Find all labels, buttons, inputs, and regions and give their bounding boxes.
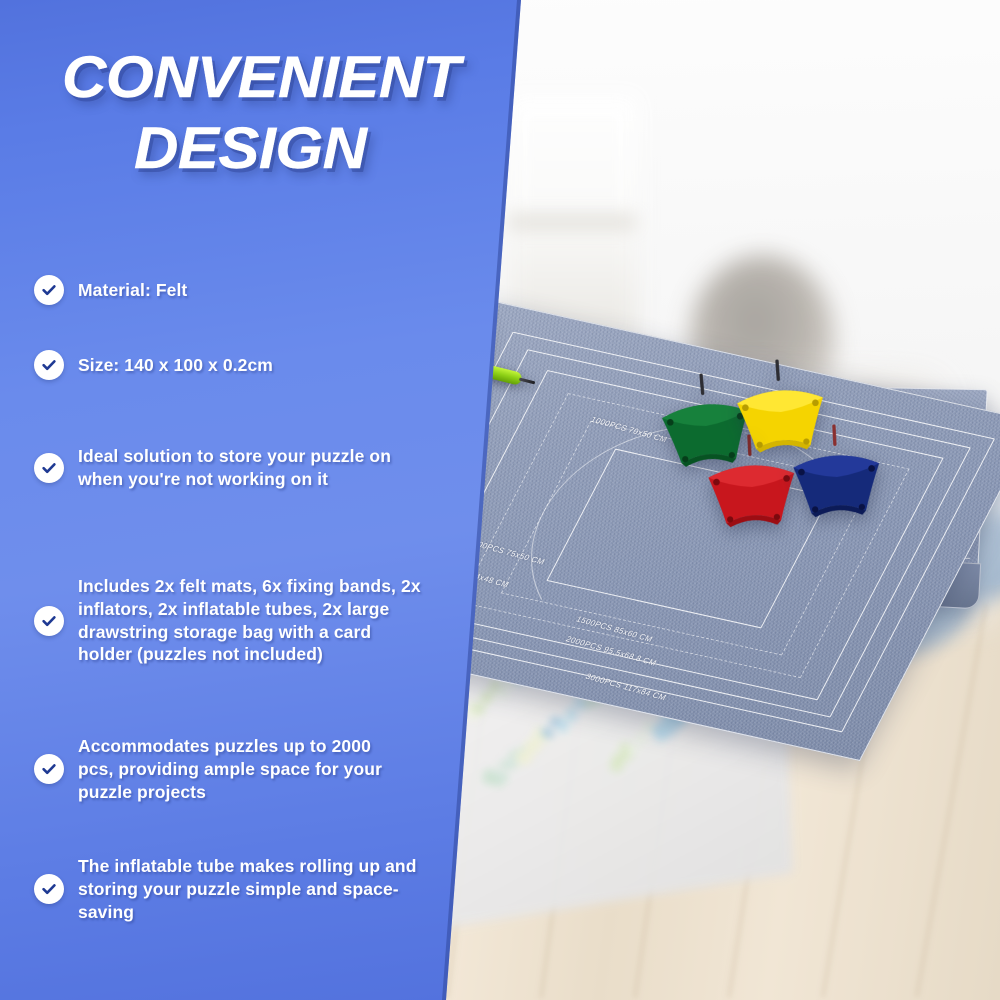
puzzle-piece [497,681,508,699]
puzzle-piece [558,718,569,733]
feature-text-2: Size: 140 x 100 x 0.2cm [78,354,408,377]
puzzle-piece [635,732,647,745]
feature-item-3: Ideal solution to store your puzzle on w… [34,445,434,491]
feature-item-2: Size: 140 x 100 x 0.2cm [34,350,434,380]
puzzle-piece [480,691,493,703]
check-circle-icon [34,275,64,305]
feature-item-4: Includes 2x felt mats, 6x fixing bands, … [34,575,434,666]
page-title: CONVENIENT DESIGN [62,50,462,178]
feature-text-1: Material: Felt [78,279,408,302]
tray-blue [786,437,888,520]
check-circle-icon [34,874,64,904]
feature-text-5: Accommodates puzzles up to 2000 pcs, pro… [78,735,408,803]
title-line-1: CONVENIENT [62,50,486,107]
check-circle-icon [34,754,64,784]
check-circle-icon [34,606,64,636]
feature-item-6: The inflatable tube makes rolling up and… [34,855,434,923]
blurred-shelf-edge [508,215,636,229]
check-circle-icon [34,453,64,483]
feature-text-3: Ideal solution to store your puzzle on w… [78,445,423,491]
infographic-canvas: 1000PCS 70x50 CM 1000PCS 75x50 CM 3000PC… [0,0,1000,1000]
pump-needle [519,378,535,385]
puzzle-piece [500,760,518,768]
title-line-2: DESIGN [134,121,482,178]
check-circle-icon [34,350,64,380]
feature-item-5: Accommodates puzzles up to 2000 pcs, pro… [34,735,434,803]
puzzle-piece [609,753,625,773]
feature-item-1: Material: Felt [34,275,434,305]
puzzle-piece [515,749,533,766]
feature-text-6: The inflatable tube makes rolling up and… [78,855,428,923]
feature-text-4: Includes 2x felt mats, 6x fixing bands, … [78,575,428,666]
puzzle-piece [628,744,637,755]
